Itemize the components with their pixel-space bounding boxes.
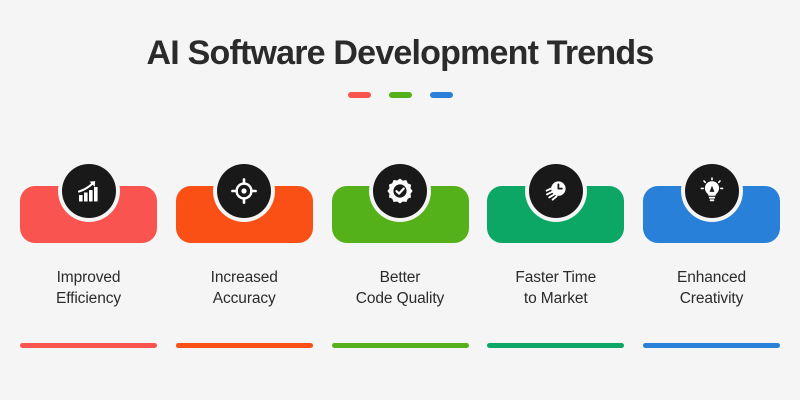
dash-green <box>389 92 412 98</box>
card-graphic <box>487 160 624 243</box>
icon-badge <box>58 160 120 222</box>
card-underline <box>176 343 313 348</box>
infographic-canvas: AI Software Development Trends <box>0 0 800 400</box>
card-label: Improved Efficiency <box>56 267 121 309</box>
page-title: AI Software Development Trends <box>0 34 800 73</box>
trend-card[interactable]: Enhanced Creativity <box>643 160 780 309</box>
card-underline <box>643 343 780 348</box>
crosshair-target-icon <box>217 164 271 218</box>
speeding-clock-icon <box>529 164 583 218</box>
icon-badge <box>369 160 431 222</box>
trend-card[interactable]: Increased Accuracy <box>176 160 313 309</box>
trend-card-list: Improved Efficiency <box>20 160 780 309</box>
icon-badge <box>525 160 587 222</box>
dash-blue <box>430 92 453 98</box>
card-graphic <box>643 160 780 243</box>
trend-card[interactable]: Improved Efficiency <box>20 160 157 309</box>
card-underline <box>20 343 157 348</box>
card-graphic <box>332 160 469 243</box>
card-label: Better Code Quality <box>356 267 444 309</box>
card-label: Increased Accuracy <box>211 267 278 309</box>
card-underline <box>487 343 624 348</box>
card-graphic <box>176 160 313 243</box>
icon-badge <box>681 160 743 222</box>
header: AI Software Development Trends <box>0 0 800 100</box>
trend-card[interactable]: Better Code Quality <box>332 160 469 309</box>
card-label: Enhanced Creativity <box>677 267 746 309</box>
card-underline-row <box>20 343 780 348</box>
trend-card[interactable]: Faster Time to Market <box>487 160 624 309</box>
lightbulb-idea-icon <box>685 164 739 218</box>
verified-badge-check-icon <box>373 164 427 218</box>
card-graphic <box>20 160 157 243</box>
growth-bar-chart-icon <box>62 164 116 218</box>
accent-dash-row <box>0 90 800 100</box>
dash-red <box>348 92 371 98</box>
card-underline <box>332 343 469 348</box>
icon-badge <box>213 160 275 222</box>
card-label: Faster Time to Market <box>515 267 596 309</box>
